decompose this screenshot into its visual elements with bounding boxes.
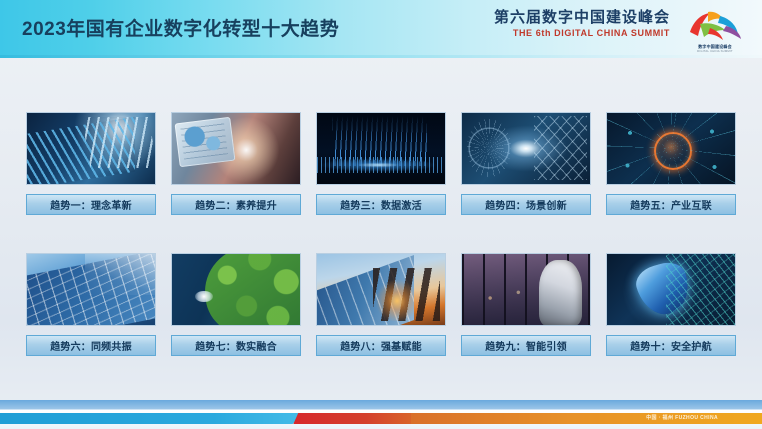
network-light-burst-image xyxy=(462,113,590,184)
trend-card-6[interactable]: 趋势六：同频共振 xyxy=(26,253,156,356)
tablet-hands-skills-training-image xyxy=(172,113,300,184)
trend-thumbnail xyxy=(461,253,591,326)
calligraphy-icon xyxy=(680,6,750,42)
trend-label: 趋势八：强基赋能 xyxy=(316,335,446,356)
trend-card-7[interactable]: 趋势七：数实融合 xyxy=(171,253,301,356)
security-shield-digital-image xyxy=(607,254,735,325)
trend-card-5[interactable]: 趋势五：产业互联 xyxy=(606,112,736,215)
trend-card-4[interactable]: 趋势四：场景创新 xyxy=(461,112,591,215)
digital-data-helix-keyboard-image xyxy=(27,113,155,184)
trend-card-10[interactable]: 趋势十：安全护航 xyxy=(606,253,736,356)
trends-grid: 趋势一：理念革新 趋势二：素养提升 趋势三：数据激活 趋势四：场景创新 xyxy=(26,112,736,356)
trend-thumbnail xyxy=(171,112,301,185)
footer-bar-red xyxy=(293,413,415,424)
trend-label: 趋势七：数实融合 xyxy=(171,335,301,356)
trend-thumbnail xyxy=(606,253,736,326)
trend-label: 趋势六：同频共振 xyxy=(26,335,156,356)
robot-city-window-image xyxy=(462,254,590,325)
footer-bar-blue xyxy=(0,413,305,424)
trend-thumbnail xyxy=(316,253,446,326)
solar-panels-sunset-image xyxy=(317,254,445,325)
trend-thumbnail xyxy=(606,112,736,185)
summit-branding: 第六届数字中国建设峰会 THE 6th DIGITAL CHINA SUMMIT xyxy=(494,10,670,38)
trend-label: 趋势三：数据激活 xyxy=(316,194,446,215)
trend-thumbnail xyxy=(171,253,301,326)
page-title: 2023年国有企业数字化转型十大趋势 xyxy=(22,14,339,41)
trend-card-2[interactable]: 趋势二：素养提升 xyxy=(171,112,301,215)
footer-location-text: 中国 · 福州 FUZHOU CHINA xyxy=(646,414,718,423)
blue-data-stream-rain-image xyxy=(317,113,445,184)
summit-name-en: THE 6th DIGITAL CHINA SUMMIT xyxy=(494,29,670,38)
digital-china-summit-logo-icon: 数字中国建设峰会 DIGITAL CHINA SUMMIT xyxy=(680,6,750,54)
row-spacer xyxy=(26,215,736,253)
trend-card-3[interactable]: 趋势三：数据激活 xyxy=(316,112,446,215)
trend-thumbnail xyxy=(26,112,156,185)
trend-label: 趋势一：理念革新 xyxy=(26,194,156,215)
trend-card-9[interactable]: 趋势九：智能引领 xyxy=(461,253,591,356)
trend-card-8[interactable]: 趋势八：强基赋能 xyxy=(316,253,446,356)
trend-label: 趋势十：安全护航 xyxy=(606,335,736,356)
trend-label: 趋势五：产业互联 xyxy=(606,194,736,215)
trend-card-1[interactable]: 趋势一：理念革新 xyxy=(26,112,156,215)
footer-color-bar: 中国 · 福州 FUZHOU CHINA xyxy=(0,413,762,424)
header-underline xyxy=(0,55,762,58)
trend-thumbnail xyxy=(461,112,591,185)
summit-name-cn: 第六届数字中国建设峰会 xyxy=(494,10,670,25)
trend-label: 趋势九：智能引领 xyxy=(461,335,591,356)
presentation-slide: 2023年国有企业数字化转型十大趋势 第六届数字中国建设峰会 THE 6th D… xyxy=(0,0,762,429)
solar-panel-array-image xyxy=(27,254,155,325)
slide-footer: 中国 · 福州 FUZHOU CHINA xyxy=(0,400,762,429)
trends-row-2: 趋势六：同频共振 趋势七：数实融合 趋势八：强基赋能 趋势九：智能引领 xyxy=(26,253,736,356)
forest-and-water-aerial-image xyxy=(172,254,300,325)
trend-label: 趋势四：场景创新 xyxy=(461,194,591,215)
trend-thumbnail xyxy=(316,112,446,185)
trends-row-1: 趋势一：理念革新 趋势二：素养提升 趋势三：数据激活 趋势四：场景创新 xyxy=(26,112,736,215)
cloud-network-hub-image xyxy=(607,113,735,184)
trend-thumbnail xyxy=(26,253,156,326)
trend-label: 趋势二：素养提升 xyxy=(171,194,301,215)
logo-calligraphy-mark xyxy=(680,6,750,42)
logo-caption-en: DIGITAL CHINA SUMMIT xyxy=(680,49,750,53)
